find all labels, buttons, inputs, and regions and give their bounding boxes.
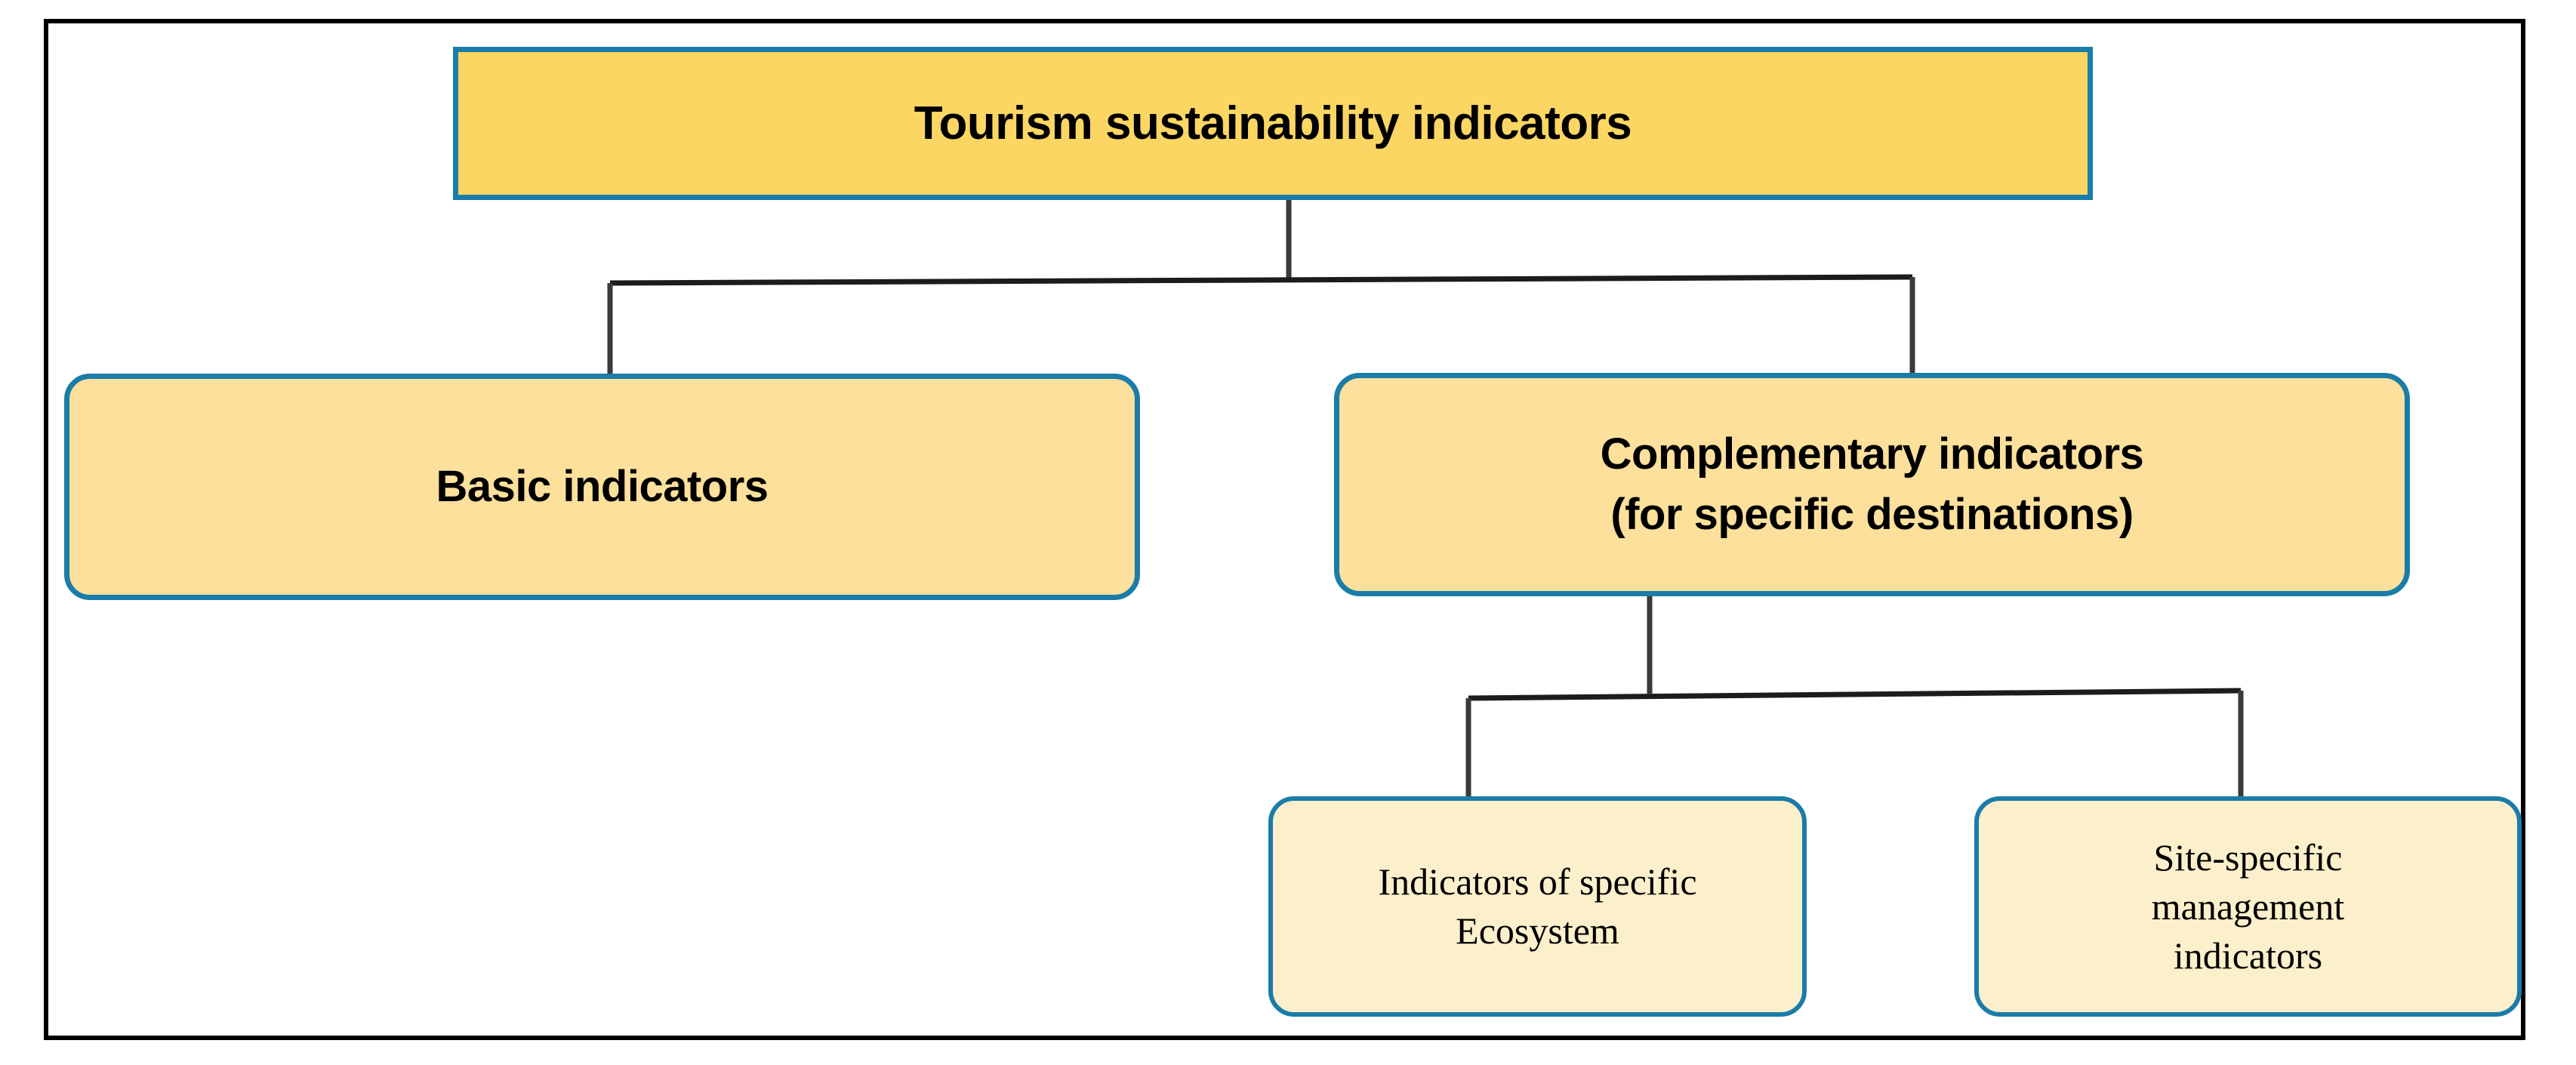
- node-site-text: Site-specific management indicators: [1979, 833, 2517, 980]
- node-complementary-line-2: (for specific destinations): [1356, 485, 2388, 545]
- node-site-line-2: management: [1995, 882, 2501, 931]
- node-indicators-of-specific-ecosystem[interactable]: Indicators of specific Ecosystem: [1268, 796, 1807, 1017]
- node-ecosystem-text: Indicators of specific Ecosystem: [1273, 857, 1802, 956]
- node-basic-text: Basic indicators: [69, 457, 1135, 517]
- node-site-line-1: Site-specific: [1995, 833, 2501, 882]
- node-site-specific-management-indicators[interactable]: Site-specific management indicators: [1974, 796, 2522, 1017]
- node-tourism-sustainability-indicators[interactable]: Tourism sustainability indicators: [453, 47, 2093, 200]
- node-complementary-line-1: Complementary indicators: [1356, 424, 2388, 485]
- diagram-canvas: Tourism sustainability indicators Basic …: [0, 0, 2576, 1065]
- node-complementary-text: Complementary indicators (for specific d…: [1339, 424, 2405, 545]
- node-site-line-3: indicators: [1995, 931, 2501, 980]
- node-ecosystem-line-2: Ecosystem: [1290, 906, 1786, 956]
- node-basic-indicators[interactable]: Basic indicators: [64, 374, 1140, 600]
- node-root-text: Tourism sustainability indicators: [458, 96, 2088, 151]
- node-complementary-indicators[interactable]: Complementary indicators (for specific d…: [1334, 373, 2410, 596]
- node-root-line-1: Tourism sustainability indicators: [475, 96, 2071, 151]
- node-ecosystem-line-1: Indicators of specific: [1290, 857, 1786, 906]
- node-basic-line-1: Basic indicators: [86, 457, 1118, 517]
